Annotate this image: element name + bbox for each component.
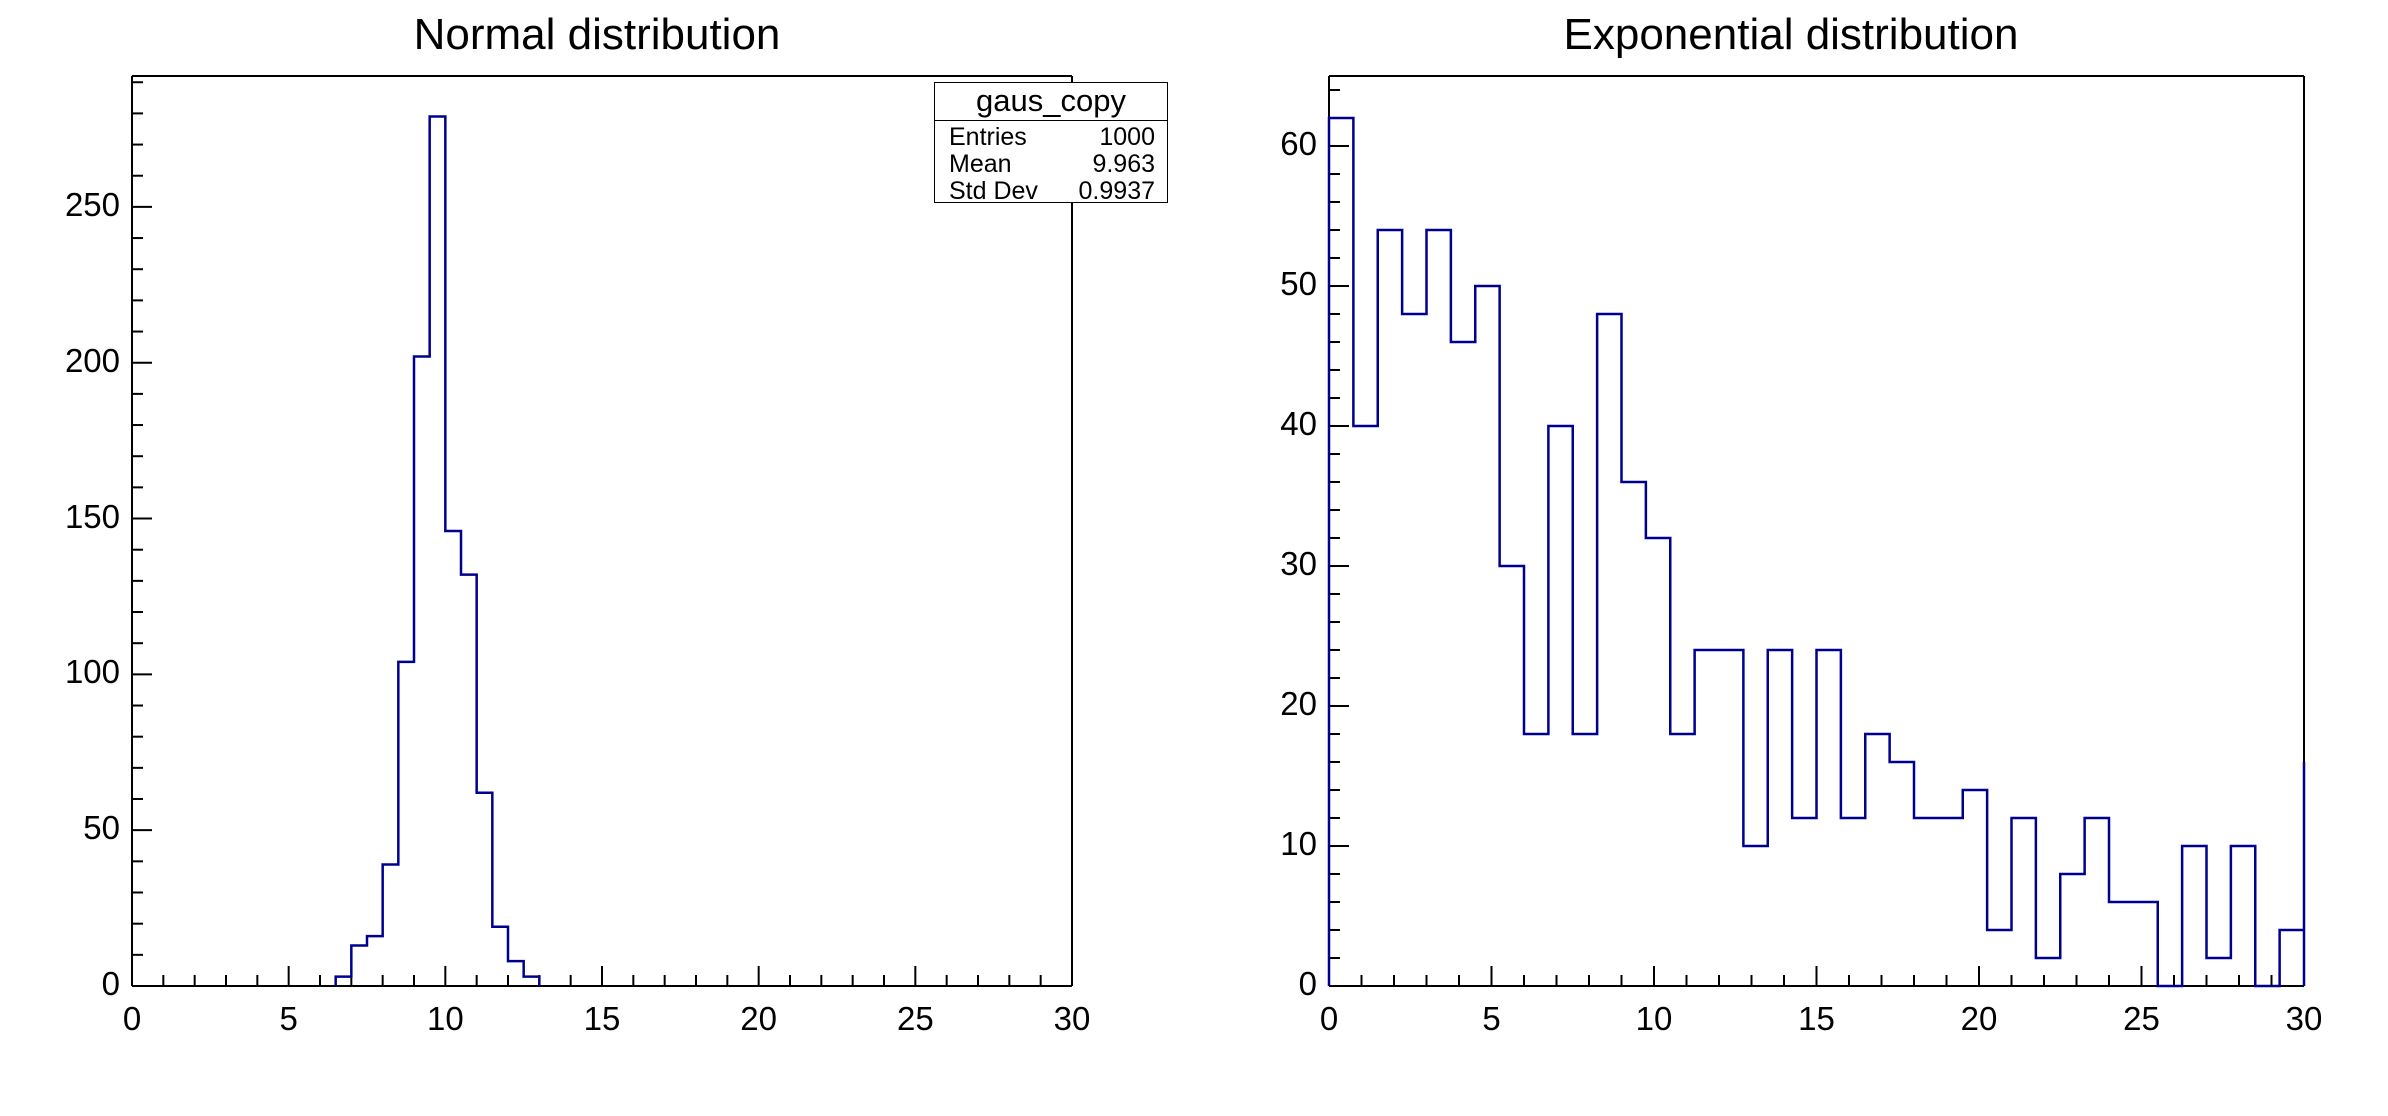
stats-box-gaus[interactable]: gaus_copy Entries 1000 Mean 9.963 Std De… bbox=[934, 82, 1168, 203]
y-tick-label: 30 bbox=[1207, 545, 1317, 583]
x-tick-label: 30 bbox=[2264, 1000, 2344, 1038]
y-tick-label: 250 bbox=[10, 186, 120, 224]
stats-label-mean: Mean bbox=[949, 151, 1012, 178]
root-canvas: Normal distribution gaus_copy Entries 10… bbox=[0, 0, 2388, 1116]
y-tick-label: 0 bbox=[1207, 965, 1317, 1003]
y-tick-label: 40 bbox=[1207, 405, 1317, 443]
stats-row-mean: Mean 9.963 bbox=[949, 151, 1155, 178]
y-tick-label: 50 bbox=[10, 809, 120, 847]
x-tick-label: 0 bbox=[92, 1000, 172, 1038]
stats-rows-gaus: Entries 1000 Mean 9.963 Std Dev 0.9937 bbox=[935, 121, 1167, 205]
stats-value-mean: 9.963 bbox=[1092, 151, 1155, 178]
x-tick-label: 5 bbox=[249, 1000, 329, 1038]
stats-value-stddev: 0.9937 bbox=[1079, 178, 1155, 205]
x-tick-label: 0 bbox=[1289, 1000, 1369, 1038]
x-tick-label: 5 bbox=[1452, 1000, 1532, 1038]
y-tick-label: 10 bbox=[1207, 825, 1317, 863]
y-tick-label: 50 bbox=[1207, 265, 1317, 303]
x-tick-label: 20 bbox=[1939, 1000, 2019, 1038]
x-tick-label: 15 bbox=[562, 1000, 642, 1038]
x-tick-label: 15 bbox=[1777, 1000, 1857, 1038]
x-tick-label: 10 bbox=[405, 1000, 485, 1038]
stats-row-entries: Entries 1000 bbox=[949, 124, 1155, 151]
stats-title-gaus: gaus_copy bbox=[935, 83, 1167, 121]
x-tick-label: 30 bbox=[1032, 1000, 1112, 1038]
y-tick-label: 100 bbox=[10, 653, 120, 691]
x-tick-label: 25 bbox=[2102, 1000, 2182, 1038]
x-tick-label: 20 bbox=[719, 1000, 799, 1038]
pad-normal-distribution[interactable]: Normal distribution gaus_copy Entries 10… bbox=[0, 0, 1194, 1116]
pad-exponential-distribution[interactable]: Exponential distribution exponential_cop… bbox=[1194, 0, 2388, 1116]
x-tick-label: 25 bbox=[875, 1000, 955, 1038]
stats-row-stddev: Std Dev 0.9937 bbox=[949, 178, 1155, 205]
stats-label-stddev: Std Dev bbox=[949, 178, 1038, 205]
stats-label-entries: Entries bbox=[949, 124, 1027, 151]
y-tick-label: 0 bbox=[10, 965, 120, 1003]
y-tick-label: 150 bbox=[10, 498, 120, 536]
stats-value-entries: 1000 bbox=[1099, 124, 1155, 151]
x-tick-label: 10 bbox=[1614, 1000, 1694, 1038]
y-tick-label: 200 bbox=[10, 342, 120, 380]
histogram-exponential-distribution[interactable] bbox=[1194, 0, 2388, 1116]
y-tick-label: 20 bbox=[1207, 685, 1317, 723]
y-tick-label: 60 bbox=[1207, 125, 1317, 163]
